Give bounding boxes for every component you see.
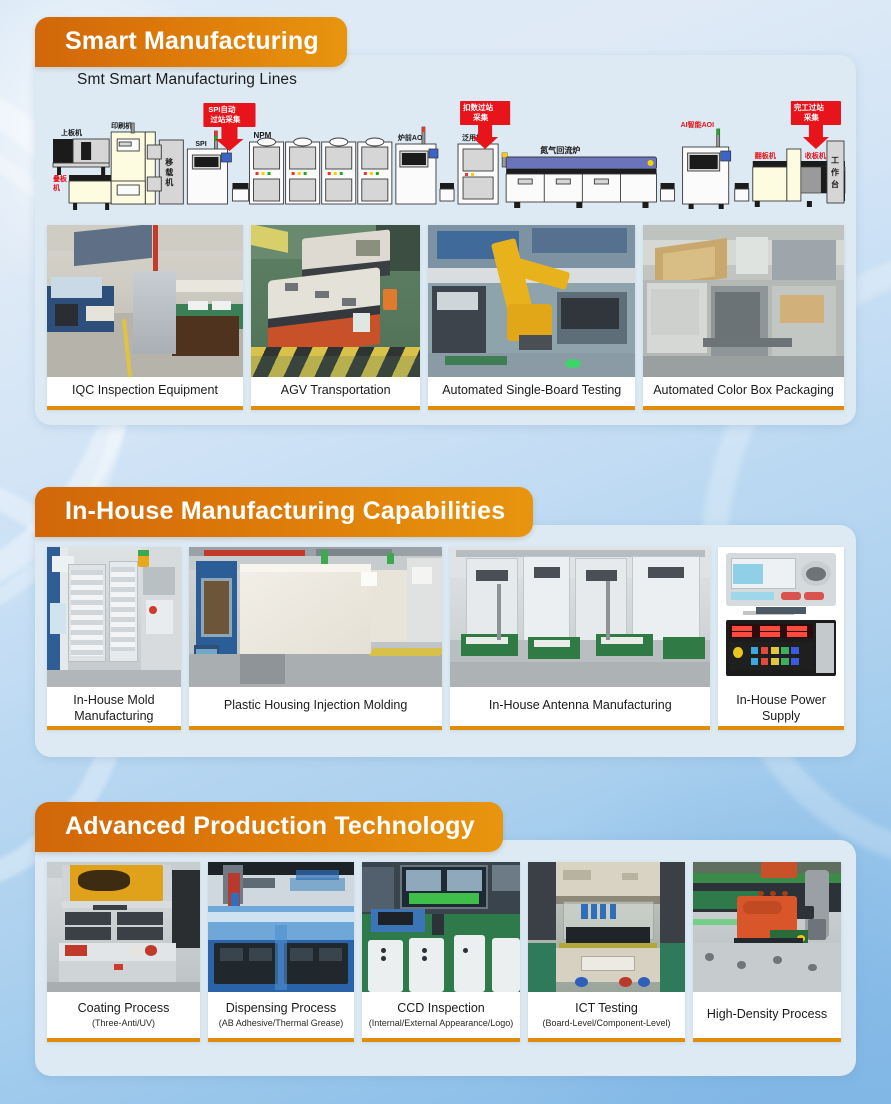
photo-ict-test-fixture	[528, 862, 685, 992]
section-in-house-manufacturing: In-House Manufacturing Capabilities	[35, 487, 856, 757]
svg-text:采集: 采集	[472, 112, 489, 122]
caption-high-density-process: High-Density Process	[693, 992, 841, 1038]
caption-title: Automated Single-Board Testing	[442, 383, 621, 399]
caption-subtitle: (Board-Level/Component-Level)	[542, 1018, 670, 1029]
section-panel-smart-manufacturing: Smt Smart Manufacturing Lines .mc{fill:#…	[35, 55, 856, 425]
svg-text:作: 作	[831, 167, 839, 177]
caption-subtitle: (Internal/External Appearance/Logo)	[369, 1018, 514, 1029]
svg-text:炉前AOI: 炉前AOI	[398, 133, 425, 142]
section-panel-advanced-production-technology: Coating Process (Three-Anti/UV)	[35, 840, 856, 1076]
smart-manufacturing-card-grid: IQC Inspection Equipment	[35, 219, 856, 410]
caption-title: AGV Transportation	[281, 383, 391, 399]
caption-coating-process: Coating Process (Three-Anti/UV)	[47, 992, 200, 1038]
photo-ccd-inspection-station	[362, 862, 520, 992]
svg-text:叠板: 叠板	[53, 174, 68, 183]
section-smart-manufacturing: Smart Manufacturing Smt Smart Manufactur…	[35, 17, 856, 425]
svg-text:台: 台	[831, 179, 839, 189]
section-title-smart-manufacturing: Smart Manufacturing	[35, 17, 347, 67]
caption-in-house-power-supply-manufacturing: In-House Power Supply Manufacturing	[718, 687, 844, 730]
caption-iqc-inspection-equipment: IQC Inspection Equipment	[47, 377, 243, 406]
card-ccd-inspection[interactable]: CCD Inspection (Internal/External Appear…	[362, 862, 520, 1042]
caption-ict-testing: ICT Testing (Board-Level/Component-Level…	[528, 992, 685, 1038]
section-title-in-house-manufacturing: In-House Manufacturing Capabilities	[35, 487, 533, 537]
caption-title: Automated Color Box Packaging	[653, 383, 834, 399]
svg-text:上板机: 上板机	[61, 128, 82, 137]
photo-yellow-robot-arm-cell	[428, 225, 635, 377]
svg-text:扣数过站: 扣数过站	[463, 102, 494, 112]
card-dispensing-process[interactable]: Dispensing Process (AB Adhesive/Thermal …	[208, 862, 354, 1042]
svg-text:收板机: 收板机	[805, 151, 826, 160]
svg-text:氮气回流炉: 氮气回流炉	[540, 145, 580, 155]
caption-title: IQC Inspection Equipment	[72, 383, 218, 399]
card-plastic-housing-injection-molding[interactable]: Plastic Housing Injection Molding	[189, 547, 443, 730]
svg-text:SPI自动: SPI自动	[208, 104, 236, 114]
card-iqc-inspection-equipment[interactable]: IQC Inspection Equipment	[47, 225, 243, 410]
section-title-advanced-production-technology: Advanced Production Technology	[35, 802, 503, 852]
photo-conformal-coating-machine	[47, 862, 200, 992]
card-in-house-mold-manufacturing[interactable]: In-House Mold Manufacturing	[47, 547, 181, 730]
card-in-house-power-supply-manufacturing[interactable]: In-House Power Supply Manufacturing	[718, 547, 844, 730]
svg-text:移: 移	[165, 157, 173, 167]
caption-subtitle: (Three-Anti/UV)	[92, 1018, 155, 1029]
card-in-house-antenna-manufacturing[interactable]: In-House Antenna Manufacturing	[450, 547, 710, 730]
svg-text:印刷机: 印刷机	[111, 121, 132, 130]
smt-line-diagram: .mc{fill:#fdfbe0;stroke:#3a3a3a;stroke-w…	[47, 95, 846, 215]
photo-antenna-assembly-line	[450, 547, 710, 687]
svg-text:翻板机: 翻板机	[755, 151, 776, 160]
photo-glue-dispensing-machine	[208, 862, 354, 992]
card-ict-testing[interactable]: ICT Testing (Board-Level/Component-Level…	[528, 862, 685, 1042]
svg-text:采集: 采集	[803, 112, 820, 122]
caption-title: ICT Testing	[575, 1001, 638, 1017]
caption-title: Plastic Housing Injection Molding	[224, 698, 407, 714]
caption-title: In-House Antenna Manufacturing	[489, 698, 672, 714]
svg-text:载: 载	[165, 167, 173, 177]
svg-text:SPI: SPI	[195, 141, 206, 148]
caption-title: In-House Power Supply Manufacturing	[724, 693, 838, 730]
caption-in-house-mold-manufacturing: In-House Mold Manufacturing	[47, 687, 181, 730]
photo-cnc-mold-machine	[47, 547, 181, 687]
svg-text:机: 机	[165, 177, 173, 187]
card-high-density-process[interactable]: High-Density Process	[693, 862, 841, 1042]
svg-text:工: 工	[831, 156, 839, 165]
svg-text:AI智能AOI: AI智能AOI	[681, 120, 715, 129]
svg-text:过站采集: 过站采集	[210, 114, 241, 124]
caption-title: In-House Mold Manufacturing	[73, 693, 154, 724]
photo-high-density-orange-fixture	[693, 862, 841, 992]
caption-ccd-inspection: CCD Inspection (Internal/External Appear…	[362, 992, 520, 1038]
caption-dispensing-process: Dispensing Process (AB Adhesive/Thermal …	[208, 992, 354, 1038]
caption-agv-transportation: AGV Transportation	[251, 377, 420, 406]
card-coating-process[interactable]: Coating Process (Three-Anti/UV)	[47, 862, 200, 1042]
svg-text:机: 机	[53, 183, 60, 192]
svg-text:完工过站: 完工过站	[794, 102, 825, 112]
caption-in-house-antenna-manufacturing: In-House Antenna Manufacturing	[450, 687, 710, 726]
caption-plastic-housing-injection-molding: Plastic Housing Injection Molding	[189, 687, 443, 726]
smt-line-diagram-svg: .mc{fill:#fdfbe0;stroke:#3a3a3a;stroke-w…	[47, 95, 846, 215]
advanced-production-card-grid: Coating Process (Three-Anti/UV)	[35, 840, 856, 1042]
card-automated-single-board-testing[interactable]: Automated Single-Board Testing	[428, 225, 635, 410]
in-house-card-grid: In-House Mold Manufacturing	[35, 525, 856, 730]
caption-automated-color-box-packaging: Automated Color Box Packaging	[643, 377, 844, 406]
photo-iqc-inspection-lab	[47, 225, 243, 377]
card-agv-transportation[interactable]: AGV Transportation	[251, 225, 420, 410]
caption-title: Coating Process	[78, 1001, 170, 1017]
caption-title: Dispensing Process	[226, 1001, 336, 1017]
card-automated-color-box-packaging[interactable]: Automated Color Box Packaging	[643, 225, 844, 410]
page-root: Smart Manufacturing Smt Smart Manufactur…	[0, 0, 891, 1104]
photo-injection-molding-machine	[189, 547, 443, 687]
caption-title: High-Density Process	[707, 1007, 827, 1023]
section-advanced-production-technology: Advanced Production Technology	[35, 802, 856, 1076]
photo-agv-robot-cart	[251, 225, 420, 377]
photo-carton-packaging-line	[643, 225, 844, 377]
photo-power-supply-test-rack	[718, 547, 844, 687]
caption-automated-single-board-testing: Automated Single-Board Testing	[428, 377, 635, 406]
caption-subtitle: (AB Adhesive/Thermal Grease)	[219, 1018, 344, 1029]
section-panel-in-house-manufacturing: In-House Mold Manufacturing	[35, 525, 856, 757]
caption-title: CCD Inspection	[397, 1001, 485, 1017]
